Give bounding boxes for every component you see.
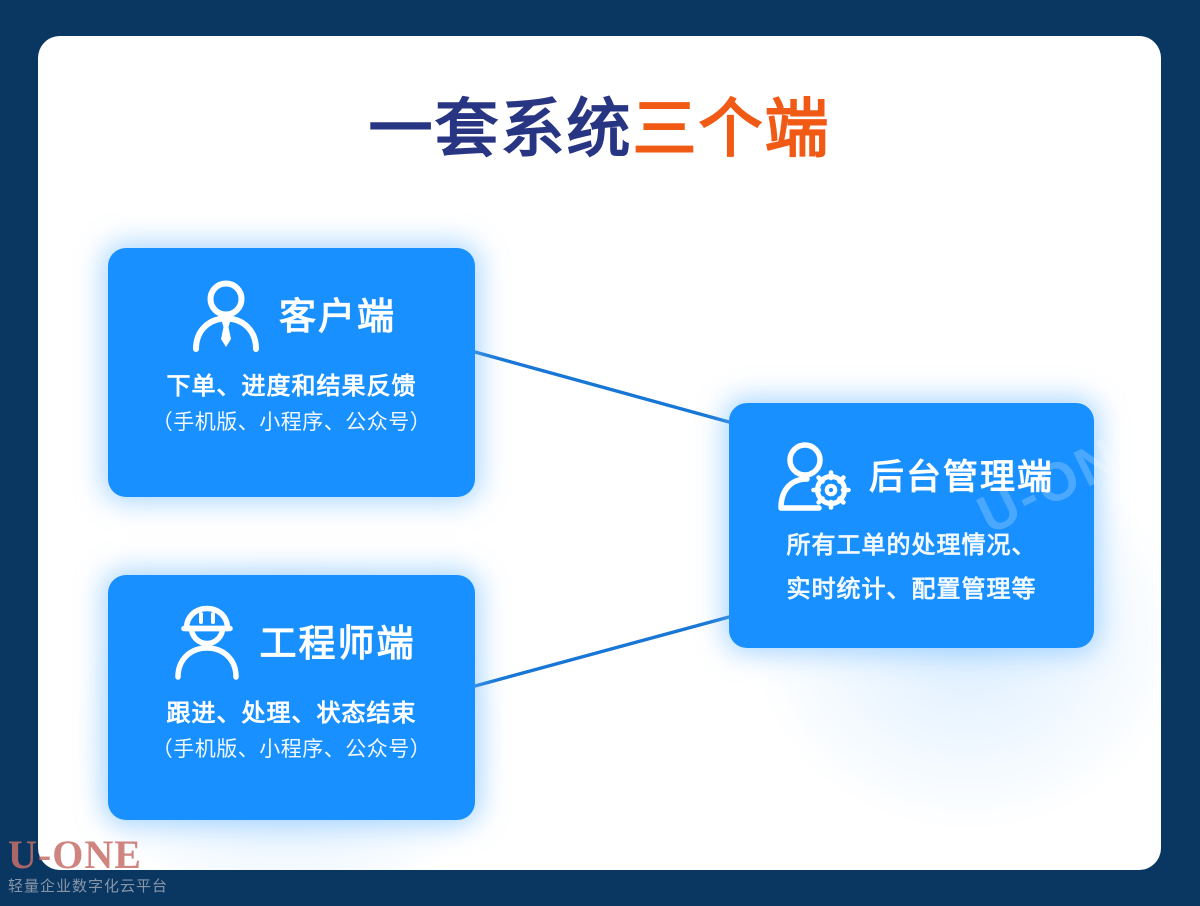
card-client-header: 客户端 bbox=[108, 274, 475, 358]
card-client[interactable]: 客户端 下单、进度和结果反馈 （手机版、小程序、公众号） bbox=[108, 248, 475, 497]
slide-canvas: 一套系统三个端 客户端 下单、进度和结果反馈 （手机版、小程序、公众号） bbox=[0, 0, 1200, 906]
card-admin-description-line2: 实时统计、配置管理等 bbox=[729, 573, 1094, 607]
brand-watermark-tagline: 轻量企业数字化云平台 bbox=[8, 879, 168, 894]
page-title-primary: 一套系统 bbox=[369, 93, 633, 165]
person-tie-icon bbox=[187, 277, 265, 355]
connector-client-to-admin bbox=[475, 352, 729, 422]
person-gear-icon bbox=[769, 438, 855, 516]
card-engineer[interactable]: 工程师端 跟进、处理、状态结束 （手机版、小程序、公众号） bbox=[108, 575, 475, 820]
card-engineer-subtitle: （手机版、小程序、公众号） bbox=[108, 736, 475, 763]
card-engineer-description: 跟进、处理、状态结束 bbox=[108, 699, 475, 730]
person-helmet-icon bbox=[168, 604, 246, 682]
card-client-subtitle: （手机版、小程序、公众号） bbox=[108, 409, 475, 436]
page-title: 一套系统三个端 bbox=[38, 94, 1161, 164]
card-admin-description-line1: 所有工单的处理情况、 bbox=[729, 529, 1094, 563]
card-client-description: 下单、进度和结果反馈 bbox=[108, 372, 475, 403]
card-engineer-header: 工程师端 bbox=[108, 601, 475, 685]
card-admin[interactable]: 后台管理端 所有工单的处理情况、 实时统计、配置管理等 bbox=[729, 403, 1094, 648]
connector-engineer-to-admin bbox=[475, 617, 729, 686]
card-client-title: 客户端 bbox=[279, 298, 396, 335]
card-engineer-title: 工程师端 bbox=[260, 625, 416, 662]
card-admin-header: 后台管理端 bbox=[729, 435, 1094, 519]
page-title-accent: 三个端 bbox=[633, 93, 831, 165]
card-admin-title: 后台管理端 bbox=[869, 460, 1054, 495]
content-panel: 一套系统三个端 客户端 下单、进度和结果反馈 （手机版、小程序、公众号） bbox=[38, 36, 1161, 870]
